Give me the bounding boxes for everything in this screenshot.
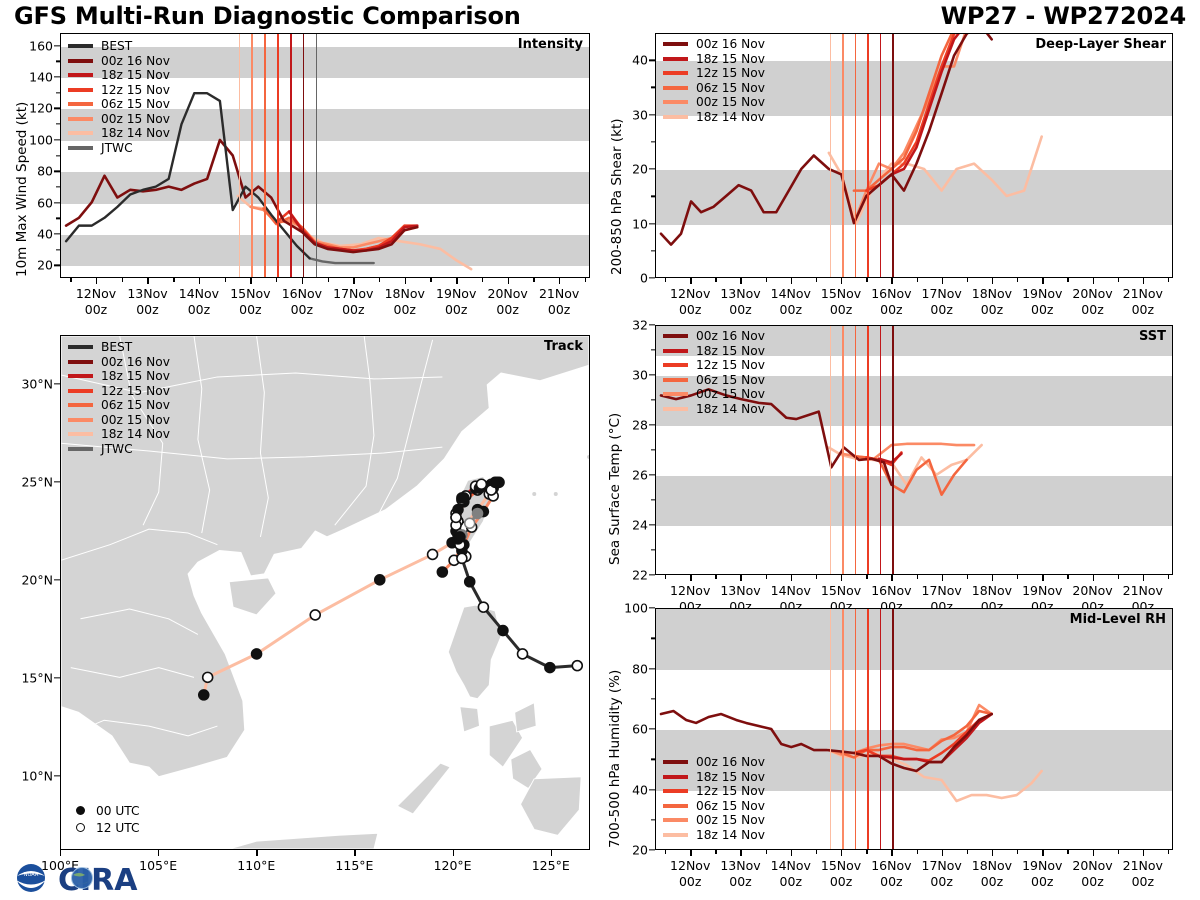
legend-color-swatch: [68, 73, 93, 77]
x-tick-date: 14Nov: [179, 286, 219, 302]
legend-item-label: 18z 14 Nov: [696, 110, 765, 124]
x-tick-mark-minor: [766, 850, 767, 854]
track-point-00utc: [459, 493, 469, 503]
x-tick-mark-minor: [225, 278, 226, 282]
x-tick-mark-minor: [665, 575, 666, 579]
x-tick-hour: 00z: [922, 302, 962, 318]
intensity-y-axis-label: 10m Max Wind Speed (kt): [14, 102, 30, 277]
series-line: [841, 33, 966, 223]
y-tick-mark: [54, 265, 60, 266]
track-point-12utc: [478, 602, 488, 612]
y-tick-mark: [649, 60, 655, 61]
track-point-12utc: [476, 479, 486, 489]
x-tick-label: 14Nov00z: [179, 286, 219, 317]
run-init-marker-line: [855, 326, 857, 574]
small-island-shape: [554, 492, 558, 496]
x-tick-mark-minor: [379, 278, 380, 282]
x-tick-date: 21Nov: [1123, 858, 1163, 874]
legend-color-swatch: [663, 57, 688, 61]
legend-color-swatch: [68, 102, 93, 106]
shear-legend: 00z 16 Nov18z 15 Nov12z 15 Nov06z 15 Nov…: [663, 37, 765, 124]
y-tick-label: 80: [632, 661, 648, 676]
small-island-shape: [532, 492, 536, 496]
y-tick-label: 80: [37, 164, 53, 179]
run-init-marker-line: [867, 326, 869, 574]
x-tick-mark: [456, 278, 457, 284]
legend-item: 00z 16 Nov: [663, 329, 765, 344]
legend-item-label: 00z 16 Nov: [101, 355, 170, 369]
track-point-12utc: [457, 553, 467, 563]
legend-color-swatch: [68, 432, 93, 436]
x-tick-mark: [740, 575, 741, 581]
utc-legend-label: 00 UTC: [96, 804, 140, 818]
y-tick-mark: [649, 168, 655, 169]
x-tick-date: 15Nov: [821, 858, 861, 874]
x-tick-hour: 00z: [972, 302, 1012, 318]
track-point-00utc: [465, 577, 475, 587]
track-panel: Track BEST00z 16 Nov18z 15 Nov12z 15 Nov…: [60, 335, 590, 850]
y-tick-label: 160: [29, 38, 53, 53]
legend-item: 12z 15 Nov: [663, 66, 765, 81]
x-tick-date: 16Nov: [871, 858, 911, 874]
y-tick-mark-minor: [651, 638, 655, 639]
x-tick-label: 18Nov00z: [385, 286, 425, 317]
x-tick-hour: 00z: [127, 302, 167, 318]
legend-item-label: 18z 14 Nov: [696, 828, 765, 842]
utc-legend-item: 12 UTC: [68, 819, 140, 836]
x-tick-mark-minor: [917, 575, 918, 579]
legend-color-swatch: [68, 59, 93, 63]
x-tick-label: 18Nov00z: [972, 858, 1012, 889]
track-point-12utc: [310, 610, 320, 620]
track-utc-legend: 00 UTC12 UTC: [68, 802, 140, 836]
x-tick-mark: [508, 278, 509, 284]
legend-item-label: BEST: [101, 340, 132, 354]
map-lat-tick-mark: [54, 677, 60, 678]
legend-item: 18z 15 Nov: [663, 52, 765, 67]
run-init-marker-line: [855, 34, 857, 277]
legend-item: 00z 16 Nov: [68, 355, 170, 370]
x-tick-date: 17Nov: [922, 583, 962, 599]
run-init-marker-line: [842, 326, 844, 574]
run-init-marker-line: [251, 34, 253, 277]
legend-item-label: 12z 15 Nov: [101, 83, 170, 97]
x-tick-date: 15Nov: [821, 583, 861, 599]
track-point-00utc: [473, 509, 483, 519]
rh-y-axis-label: 700-500 hPa Humidity (%): [607, 670, 623, 848]
x-tick-mark-minor: [1118, 575, 1119, 579]
legend-color-swatch: [663, 833, 688, 837]
x-tick-mark-minor: [967, 850, 968, 854]
track-point-00utc: [199, 690, 209, 700]
track-point-12utc: [465, 518, 475, 528]
y-tick-mark-minor: [651, 819, 655, 820]
run-init-marker-line: [277, 34, 279, 277]
legend-item-label: 18z 15 Nov: [696, 344, 765, 358]
x-tick-date: 14Nov: [771, 858, 811, 874]
legend-color-swatch: [663, 804, 688, 808]
track-point-00utc: [455, 532, 465, 542]
legend-item-label: 12z 15 Nov: [101, 384, 170, 398]
x-tick-date: 17Nov: [922, 858, 962, 874]
legend-item: 18z 15 Nov: [68, 68, 170, 83]
y-tick-label: 40: [632, 53, 648, 68]
y-tick-mark-minor: [651, 399, 655, 400]
y-tick-mark-minor: [651, 449, 655, 450]
legend-item: 06z 15 Nov: [663, 81, 765, 96]
legend-color-swatch: [68, 88, 93, 92]
legend-color-swatch: [68, 345, 93, 349]
legend-item-label: 00z 15 Nov: [696, 95, 765, 109]
legend-color-swatch: [663, 100, 688, 104]
footer-logos: NOAA CIRA: [8, 862, 166, 898]
x-tick-hour: 00z: [436, 302, 476, 318]
run-init-marker-line: [880, 609, 882, 849]
legend-item: 00z 16 Nov: [663, 37, 765, 52]
sst-panel-label: SST: [1139, 329, 1166, 344]
legend-item-label: 00z 16 Nov: [696, 329, 765, 343]
y-tick-mark-minor: [56, 218, 60, 219]
x-tick-hour: 00z: [488, 302, 528, 318]
x-tick-hour: 00z: [771, 874, 811, 890]
run-init-marker-line: [880, 326, 882, 574]
legend-item-label: 18z 15 Nov: [101, 68, 170, 82]
map-lat-tick-label: 15°N: [21, 670, 53, 685]
x-tick-hour: 00z: [821, 302, 861, 318]
legend-item: 06z 15 Nov: [663, 373, 765, 388]
y-tick-mark-minor: [56, 123, 60, 124]
x-tick-mark-minor: [1067, 278, 1068, 282]
y-tick-label: 100: [29, 132, 53, 147]
legend-item-label: 12z 15 Nov: [696, 358, 765, 372]
x-tick-label: 17Nov00z: [922, 286, 962, 317]
y-tick-mark: [649, 374, 655, 375]
legend-color-swatch: [68, 403, 93, 407]
x-tick-mark: [250, 278, 251, 284]
map-lat-tick-label: 25°N: [21, 474, 53, 489]
y-tick-label: 20: [632, 162, 648, 177]
x-tick-mark: [1093, 575, 1094, 581]
x-tick-date: 21Nov: [539, 286, 579, 302]
x-tick-date: 20Nov: [1072, 858, 1112, 874]
x-tick-label: 13Nov00z: [127, 286, 167, 317]
y-tick-mark-minor: [56, 186, 60, 187]
track-point-12utc: [203, 672, 213, 682]
x-tick-mark: [1093, 278, 1094, 284]
legend-color-swatch: [68, 131, 93, 135]
legend-item: 18z 14 Nov: [68, 427, 170, 442]
shear-panel-label: Deep-Layer Shear: [1035, 37, 1166, 52]
legend-color-swatch: [68, 447, 93, 451]
track-legend: BEST00z 16 Nov18z 15 Nov12z 15 Nov06z 15…: [68, 340, 170, 456]
x-tick-hour: 00z: [871, 874, 911, 890]
series-line: [854, 33, 967, 191]
legend-item-label: 18z 15 Nov: [101, 369, 170, 383]
x-tick-hour: 00z: [1072, 874, 1112, 890]
intensity-panel-label: Intensity: [518, 37, 583, 52]
map-lon-tick-mark: [256, 850, 257, 856]
legend-item: 06z 15 Nov: [68, 97, 170, 112]
x-tick-date: 17Nov: [922, 286, 962, 302]
x-tick-mark: [942, 850, 943, 856]
x-tick-hour: 00z: [922, 874, 962, 890]
legend-color-swatch: [68, 44, 93, 48]
x-tick-mark-minor: [665, 850, 666, 854]
cira-logo-icon: CIRA: [58, 863, 166, 897]
legend-item-label: 18z 15 Nov: [696, 52, 765, 66]
y-tick-mark-minor: [651, 499, 655, 500]
legend-item-label: 18z 14 Nov: [101, 427, 170, 441]
map-lon-tick-mark: [60, 850, 61, 856]
x-tick-mark: [740, 278, 741, 284]
x-tick-mark-minor: [482, 278, 483, 282]
x-tick-date: 16Nov: [871, 286, 911, 302]
x-tick-mark: [199, 278, 200, 284]
y-tick-mark-minor: [56, 61, 60, 62]
x-tick-mark-minor: [173, 278, 174, 282]
utc-legend-item: 00 UTC: [68, 802, 140, 819]
y-tick-mark: [649, 474, 655, 475]
x-tick-mark-minor: [967, 575, 968, 579]
x-tick-mark-minor: [917, 850, 918, 854]
rh-legend: 00z 16 Nov18z 15 Nov12z 15 Nov06z 15 Nov…: [663, 755, 765, 842]
x-tick-label: 15Nov00z: [230, 286, 270, 317]
noaa-logo-icon: NOAA: [8, 862, 54, 898]
legend-item: 12z 15 Nov: [663, 358, 765, 373]
x-tick-mark-minor: [866, 850, 867, 854]
legend-color-swatch: [68, 374, 93, 378]
x-tick-mark: [1143, 278, 1144, 284]
rh-panel: Mid-Level RH 00z 16 Nov18z 15 Nov12z 15 …: [655, 608, 1173, 850]
x-tick-date: 19Nov: [1022, 583, 1062, 599]
x-tick-label: 16Nov00z: [282, 286, 322, 317]
filled-marker-icon: [76, 806, 85, 815]
run-init-marker-line: [880, 34, 882, 277]
track-point-00utc: [498, 626, 508, 636]
x-tick-mark-minor: [70, 278, 71, 282]
series-line: [879, 33, 979, 185]
x-tick-mark-minor: [816, 575, 817, 579]
x-tick-label: 21Nov00z: [539, 286, 579, 317]
x-tick-label: 15Nov00z: [821, 286, 861, 317]
y-tick-label: 10: [632, 216, 648, 231]
legend-item-label: 12z 15 Nov: [696, 66, 765, 80]
legend-item-label: 06z 15 Nov: [101, 97, 170, 111]
track-point-00utc: [375, 575, 385, 585]
jtwc-init-marker-line: [316, 34, 318, 277]
x-tick-mark: [891, 575, 892, 581]
y-tick-label: 40: [632, 782, 648, 797]
legend-color-swatch: [663, 334, 688, 338]
legend-color-swatch: [68, 418, 93, 422]
map-lon-tick-mark: [551, 850, 552, 856]
page-title: GFS Multi-Run Diagnostic Comparison: [14, 2, 521, 30]
x-tick-hour: 00z: [76, 302, 116, 318]
legend-item: 00z 15 Nov: [663, 95, 765, 110]
x-tick-date: 21Nov: [1123, 286, 1163, 302]
x-tick-date: 19Nov: [1022, 286, 1062, 302]
x-tick-hour: 00z: [670, 302, 710, 318]
x-tick-label: 12Nov00z: [670, 286, 710, 317]
legend-item-label: 18z 14 Nov: [101, 126, 170, 140]
x-tick-mark-minor: [1067, 850, 1068, 854]
track-point-12utc: [572, 661, 582, 671]
y-tick-label: 20: [37, 258, 53, 273]
x-tick-mark: [1143, 850, 1144, 856]
x-tick-mark-minor: [1017, 575, 1018, 579]
x-tick-date: 12Nov: [670, 858, 710, 874]
x-tick-date: 13Nov: [720, 286, 760, 302]
x-tick-mark: [992, 278, 993, 284]
x-tick-hour: 00z: [539, 302, 579, 318]
legend-color-swatch: [663, 760, 688, 764]
x-tick-date: 18Nov: [972, 286, 1012, 302]
x-tick-label: 13Nov00z: [720, 286, 760, 317]
x-tick-mark: [1093, 850, 1094, 856]
x-tick-mark: [791, 278, 792, 284]
x-tick-hour: 00z: [179, 302, 219, 318]
x-tick-label: 21Nov00z: [1123, 286, 1163, 317]
x-tick-mark: [96, 278, 97, 284]
legend-item: 18z 15 Nov: [663, 344, 765, 359]
x-tick-label: 20Nov00z: [1072, 286, 1112, 317]
x-tick-label: 19Nov00z: [1022, 858, 1062, 889]
run-init-marker-line: [239, 34, 241, 277]
map-lon-tick-label: 115°E: [335, 858, 373, 874]
legend-item: 18z 14 Nov: [663, 110, 765, 125]
x-tick-mark-minor: [1118, 278, 1119, 282]
track-point-12utc: [518, 649, 528, 659]
x-tick-date: 16Nov: [871, 583, 911, 599]
track-point-00utc: [252, 649, 262, 659]
x-tick-date: 18Nov: [385, 286, 425, 302]
legend-item-label: 18z 14 Nov: [696, 402, 765, 416]
run-init-marker-line: [830, 326, 832, 574]
x-tick-mark-minor: [1017, 278, 1018, 282]
x-tick-date: 12Nov: [670, 286, 710, 302]
x-tick-label: 12Nov00z: [76, 286, 116, 317]
x-tick-hour: 00z: [1123, 874, 1163, 890]
legend-item: JTWC: [68, 442, 170, 457]
x-tick-mark-minor: [1168, 278, 1169, 282]
legend-item: 00z 15 Nov: [663, 387, 765, 402]
legend-item: 12z 15 Nov: [68, 384, 170, 399]
x-tick-mark: [992, 575, 993, 581]
x-tick-label: 19Nov00z: [436, 286, 476, 317]
x-tick-mark-minor: [533, 278, 534, 282]
legend-item-label: JTWC: [101, 141, 133, 155]
legend-item: 18z 14 Nov: [663, 402, 765, 417]
series-line: [879, 714, 992, 762]
x-tick-mark: [992, 850, 993, 856]
x-tick-date: 19Nov: [1022, 858, 1062, 874]
run-init-marker-line: [892, 34, 894, 277]
legend-color-swatch: [663, 775, 688, 779]
x-tick-date: 19Nov: [436, 286, 476, 302]
run-init-marker-line: [892, 326, 894, 574]
legend-item: 00z 15 Nov: [68, 413, 170, 428]
y-tick-mark-minor: [56, 155, 60, 156]
run-init-marker-line: [867, 34, 869, 277]
x-tick-mark-minor: [585, 278, 586, 282]
open-marker-icon: [76, 823, 85, 832]
x-tick-label: 20Nov00z: [488, 286, 528, 317]
x-tick-date: 20Nov: [1072, 286, 1112, 302]
y-tick-mark: [54, 202, 60, 203]
y-tick-mark-minor: [651, 141, 655, 142]
x-tick-mark: [891, 850, 892, 856]
x-tick-hour: 00z: [1022, 874, 1062, 890]
legend-color-swatch: [663, 349, 688, 353]
y-tick-mark: [54, 76, 60, 77]
track-point-00utc: [437, 567, 447, 577]
legend-color-swatch: [663, 818, 688, 822]
legend-item: 18z 14 Nov: [663, 828, 765, 843]
x-tick-mark-minor: [967, 278, 968, 282]
x-tick-mark: [841, 575, 842, 581]
x-tick-date: 13Nov: [720, 583, 760, 599]
run-init-marker-line: [264, 34, 266, 277]
x-tick-date: 15Nov: [821, 286, 861, 302]
x-tick-hour: 00z: [230, 302, 270, 318]
x-tick-date: 20Nov: [1072, 583, 1112, 599]
y-tick-mark-minor: [651, 196, 655, 197]
map-lat-tick-label: 20°N: [21, 572, 53, 587]
y-tick-label: 30: [632, 368, 648, 383]
x-tick-date: 12Nov: [670, 583, 710, 599]
x-tick-mark: [1042, 575, 1043, 581]
legend-item-label: 00z 15 Nov: [101, 112, 170, 126]
y-tick-label: 28: [632, 418, 648, 433]
legend-item-label: 06z 15 Nov: [696, 81, 765, 95]
x-tick-label: 12Nov00z: [670, 858, 710, 889]
y-tick-label: 26: [632, 468, 648, 483]
map-lat-tick-label: 30°N: [21, 376, 53, 391]
legend-item-label: 06z 15 Nov: [696, 373, 765, 387]
track-point-00utc: [545, 663, 555, 673]
x-tick-date: 13Nov: [720, 858, 760, 874]
y-tick-label: 32: [632, 318, 648, 333]
x-tick-mark: [942, 278, 943, 284]
sst-y-axis-label: Sea Surface Temp (°C): [607, 413, 623, 565]
x-tick-mark: [559, 278, 560, 284]
x-tick-mark: [841, 850, 842, 856]
rh-panel-label: Mid-Level RH: [1070, 612, 1166, 627]
x-tick-date: 20Nov: [488, 286, 528, 302]
y-tick-mark: [649, 789, 655, 790]
legend-item: 00z 15 Nov: [68, 112, 170, 127]
legend-item-label: 00z 16 Nov: [101, 54, 170, 68]
x-tick-hour: 00z: [1022, 302, 1062, 318]
x-tick-hour: 00z: [771, 302, 811, 318]
x-tick-label: 19Nov00z: [1022, 286, 1062, 317]
x-tick-mark: [1042, 278, 1043, 284]
x-tick-mark: [405, 278, 406, 284]
map-lon-tick-label: 120°E: [434, 858, 472, 874]
y-tick-mark-minor: [651, 250, 655, 251]
y-tick-mark: [649, 668, 655, 669]
legend-color-swatch: [68, 117, 93, 121]
x-tick-date: 13Nov: [127, 286, 167, 302]
x-tick-mark: [891, 278, 892, 284]
intensity-legend: BEST00z 16 Nov18z 15 Nov12z 15 Nov06z 15…: [68, 39, 170, 155]
x-tick-mark-minor: [715, 850, 716, 854]
svg-text:CIRA: CIRA: [58, 863, 138, 897]
y-tick-label: 0: [640, 271, 648, 286]
map-lat-tick-mark: [54, 579, 60, 580]
x-tick-hour: 00z: [871, 302, 911, 318]
y-tick-mark: [649, 849, 655, 850]
